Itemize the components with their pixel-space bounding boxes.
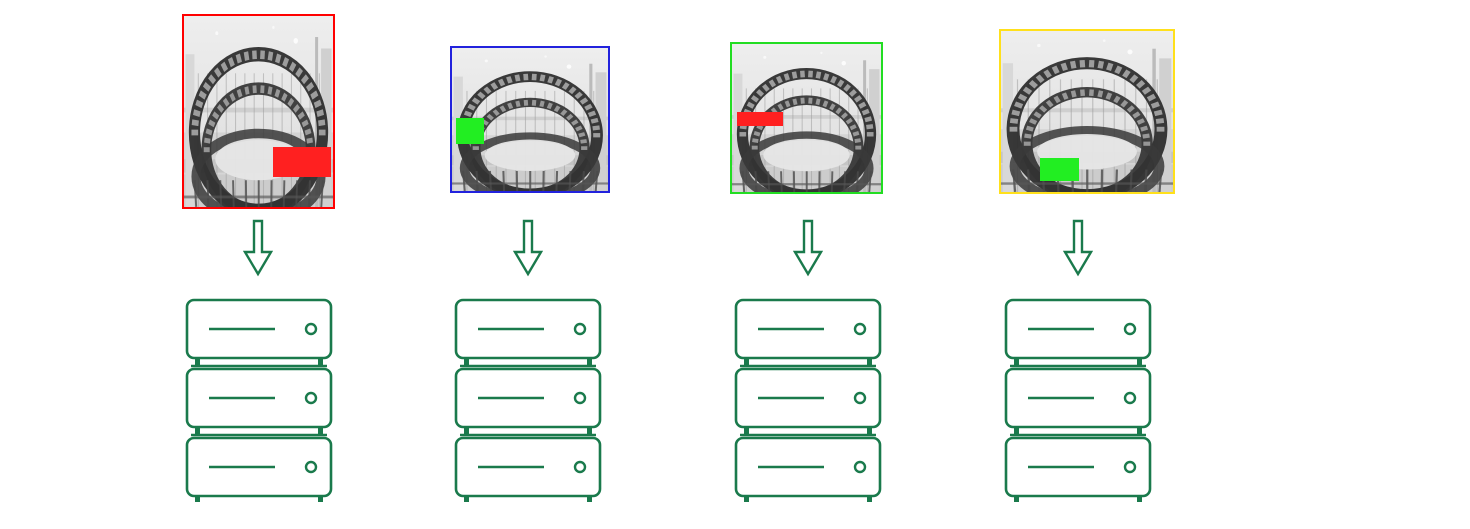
flow-arrow-3 bbox=[793, 219, 823, 277]
flow-arrow-1 bbox=[243, 219, 273, 277]
server-rack-3[interactable] bbox=[732, 298, 884, 502]
photo-thumbnail-4[interactable] bbox=[999, 29, 1175, 194]
diagram-canvas bbox=[0, 0, 1470, 529]
region-highlight-4 bbox=[1040, 158, 1079, 181]
flow-arrow-4 bbox=[1063, 219, 1093, 277]
region-highlight-1 bbox=[273, 147, 331, 177]
flow-arrow-2 bbox=[513, 219, 543, 277]
photo-thumbnail-1[interactable] bbox=[182, 14, 335, 209]
server-rack-4[interactable] bbox=[1002, 298, 1154, 502]
server-rack-2[interactable] bbox=[452, 298, 604, 502]
region-highlight-3 bbox=[737, 112, 783, 126]
region-highlight-2 bbox=[456, 118, 484, 144]
server-rack-1[interactable] bbox=[183, 298, 335, 502]
